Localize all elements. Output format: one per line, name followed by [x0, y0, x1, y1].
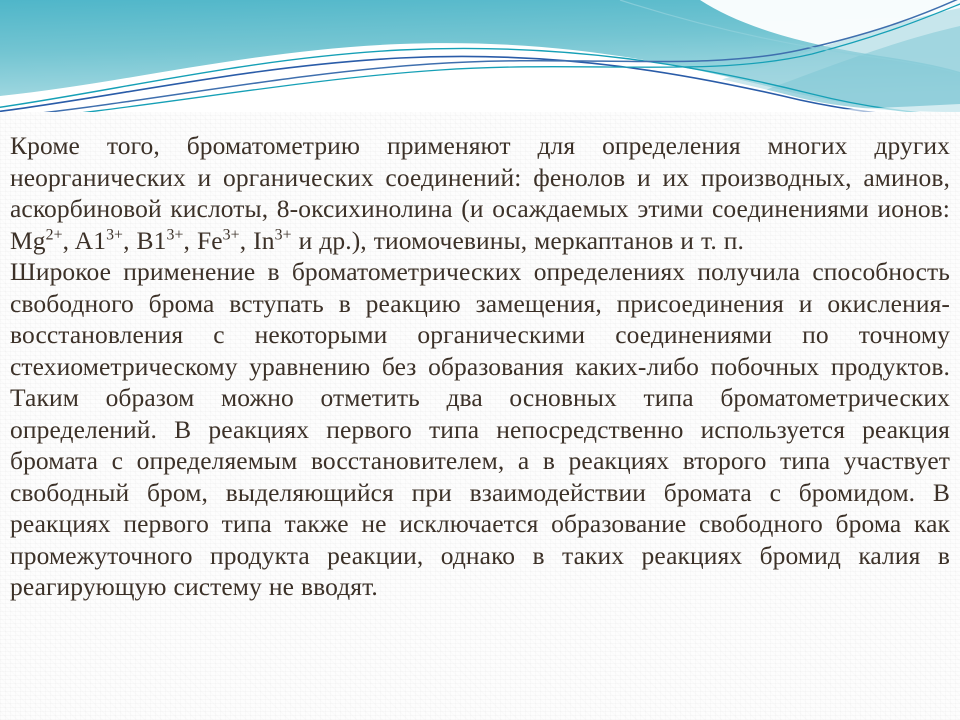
paragraph-1-seg-6: , Fe	[184, 226, 223, 255]
paragraph-1: Кроме того, броматометрию применяют для …	[10, 130, 950, 256]
superscript-al-charge: 3+	[106, 226, 123, 243]
superscript-in-charge: 3+	[275, 226, 292, 243]
header-wave-layers	[0, 0, 960, 112]
teal-wave-header-decoration	[0, 0, 960, 112]
paragraph-2: Широкое применение в броматометрических …	[10, 256, 950, 603]
paragraph-1-seg-10: и др.), тиомочевины, меркаптанов и т. п.	[292, 226, 744, 255]
slide-body-content: Кроме того, броматометрию применяют для …	[10, 130, 950, 603]
superscript-fe-charge: 3+	[223, 226, 240, 243]
paragraph-1-seg-2: , A1	[63, 226, 106, 255]
superscript-mg-charge: 2+	[46, 226, 63, 243]
slide: Кроме того, броматометрию применяют для …	[0, 0, 960, 720]
paragraph-1-prefix: Кроме того, броматометрию применяют для …	[10, 131, 950, 192]
header-wave-graphic	[0, 0, 960, 112]
paragraph-1-seg-4: , B1	[123, 226, 166, 255]
paragraph-1-seg-8: , In	[240, 226, 275, 255]
superscript-bl-charge: 3+	[167, 226, 184, 243]
